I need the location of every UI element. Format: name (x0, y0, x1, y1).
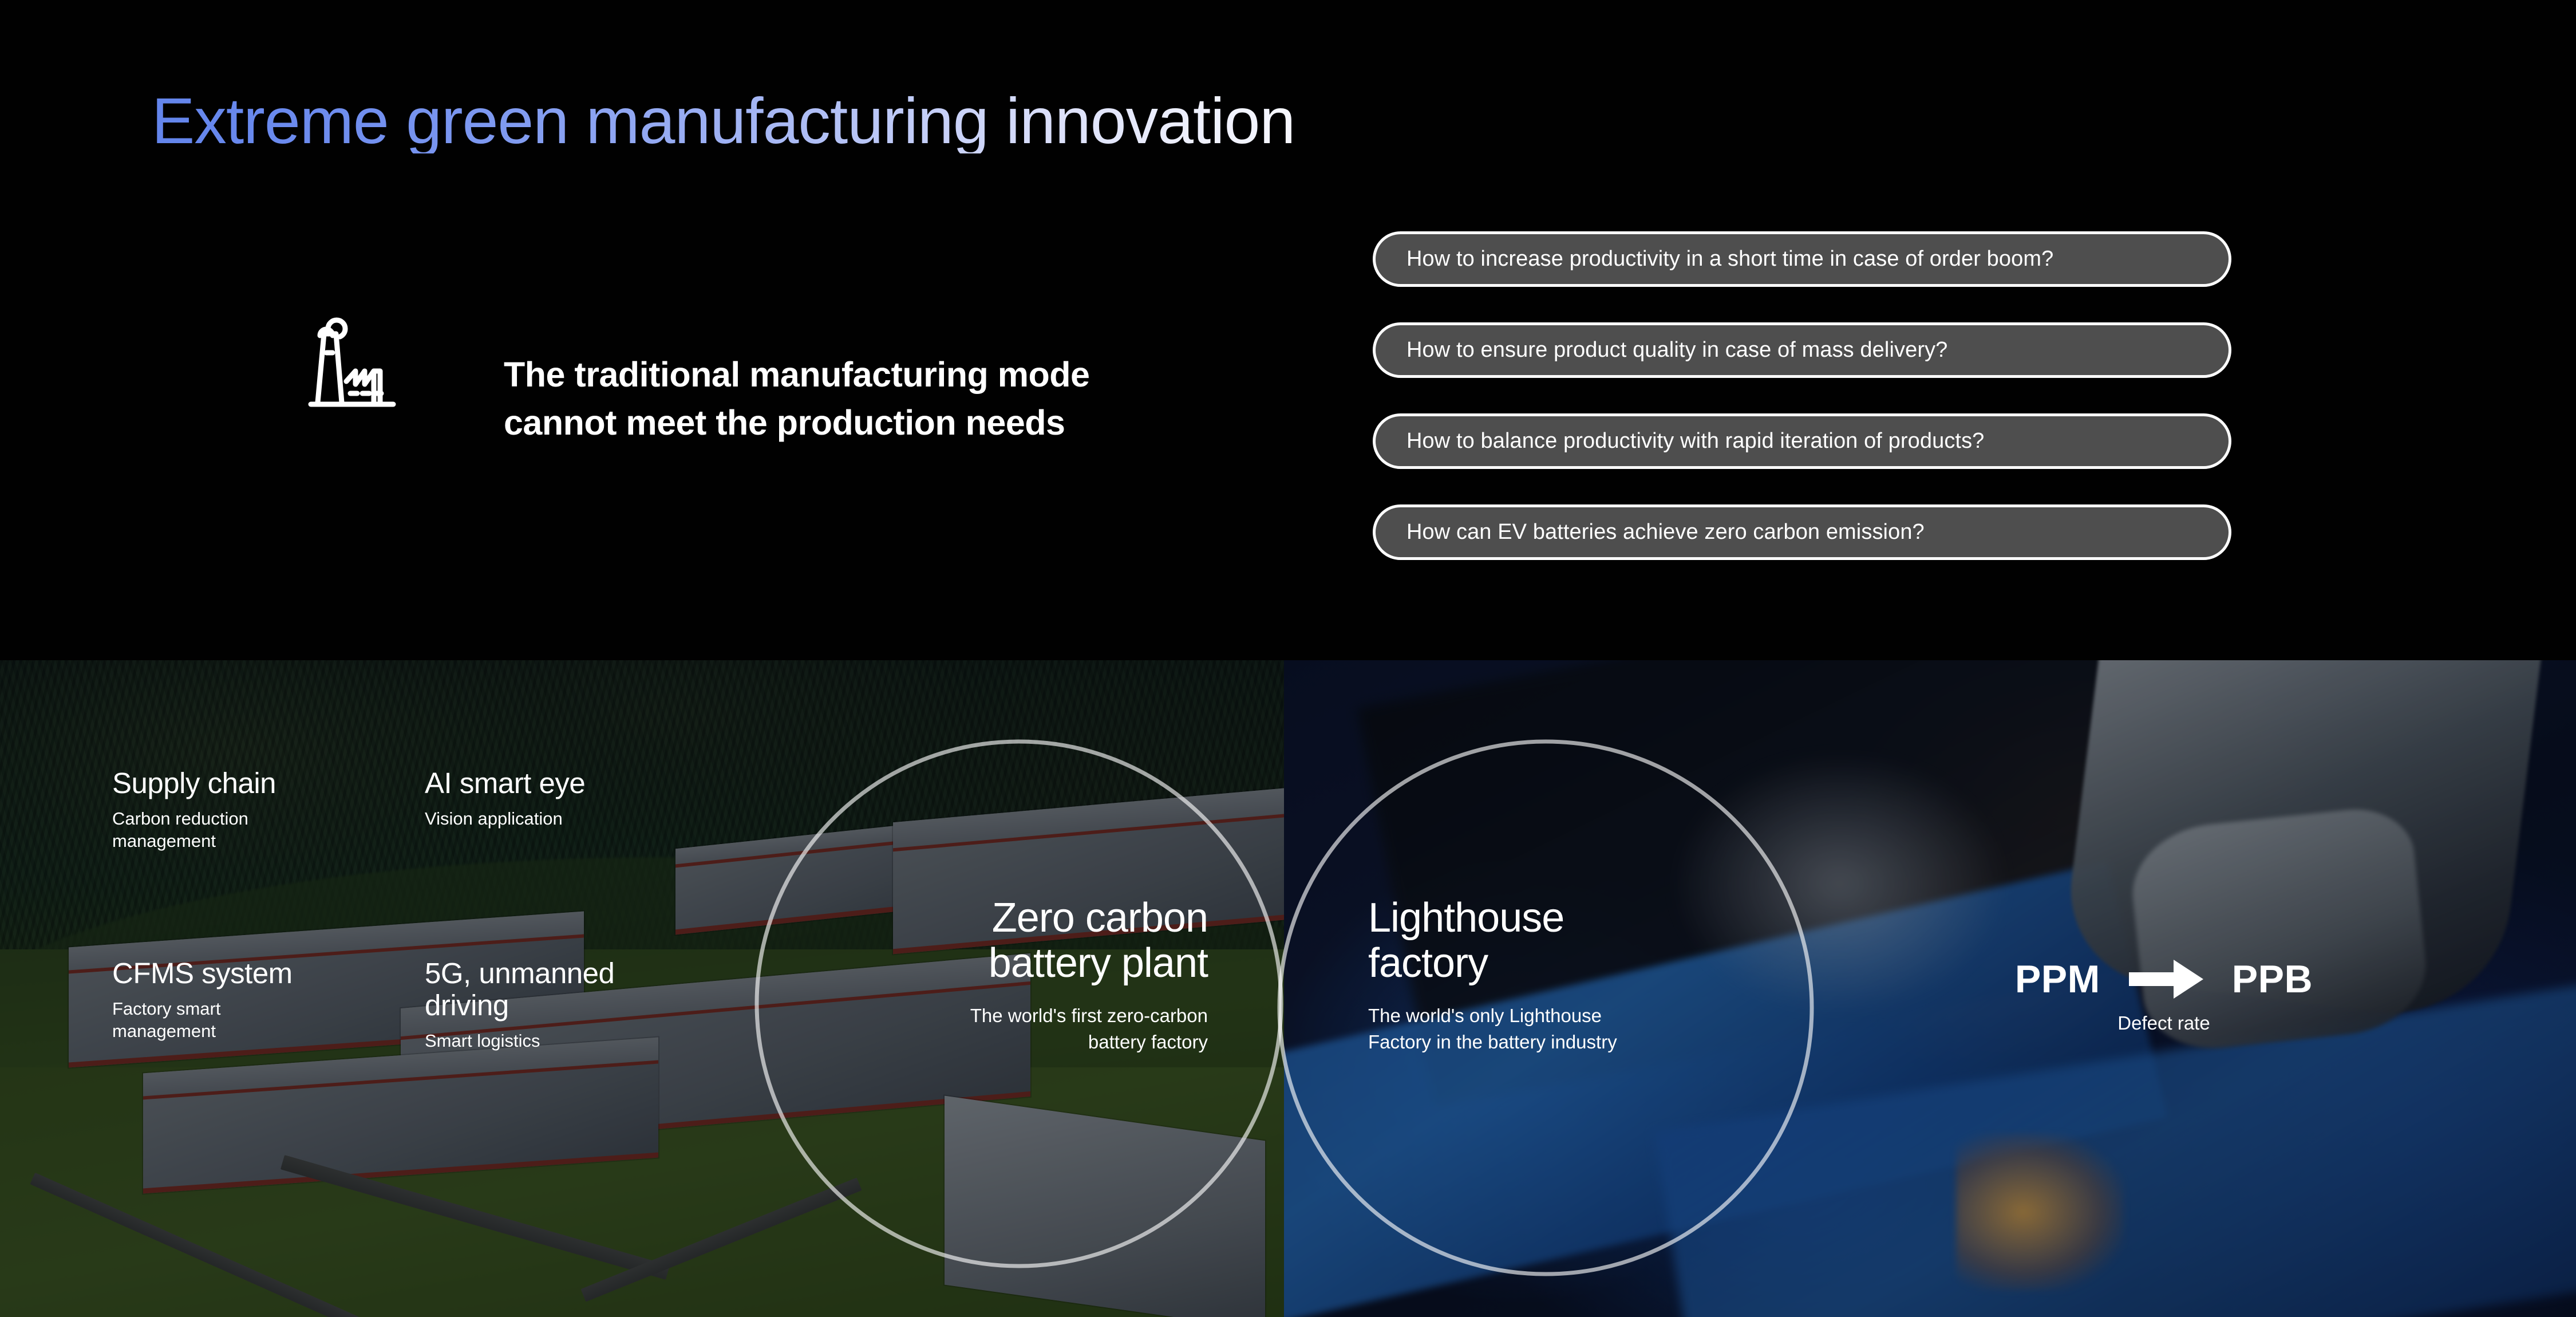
statement-line-2: cannot meet the production needs (504, 399, 1259, 447)
statement-line-1: The traditional manufacturing mode (504, 350, 1259, 399)
feature-subtitle: Smart logistics (425, 1030, 694, 1052)
highlight-title-line-2: factory (1368, 941, 1803, 986)
highlight-title-line-1: Lighthouse (1368, 896, 1803, 941)
feature-title: CFMS system (112, 957, 293, 989)
factory-icon (305, 309, 414, 424)
question-list: How to increase productivity in a short … (1373, 231, 2231, 560)
question-pill-1[interactable]: How to increase productivity in a short … (1373, 231, 2231, 287)
feature-ai-smart-eye: AI smart eye Vision application (425, 767, 585, 830)
statement-heading: The traditional manufacturing mode canno… (504, 350, 1259, 447)
feature-title: 5G, unmanned driving (425, 957, 694, 1022)
feature-subtitle: Vision application (425, 807, 585, 830)
question-pill-2[interactable]: How to ensure product quality in case of… (1373, 322, 2231, 378)
highlight-subtitle-line-2: battery factory (744, 1030, 1208, 1055)
highlight-subtitle-line-1: The world's first zero-carbon (744, 1003, 1208, 1028)
feature-cfms-system: CFMS system Factory smart management (112, 957, 293, 1042)
question-pill-label: How to ensure product quality in case of… (1376, 338, 1947, 362)
top-black-section: Extreme green manufacturing innovation T… (0, 0, 2576, 660)
question-pill-label: How to balance productivity with rapid i… (1376, 429, 1984, 454)
question-pill-label: How to increase productivity in a short … (1376, 247, 2053, 271)
highlight-zero-carbon-battery-plant: Zero carbon battery plant The world's fi… (744, 896, 1208, 1054)
feature-5g-unmanned-driving: 5G, unmanned driving Smart logistics (425, 957, 694, 1052)
highlight-subtitle-line-1: The world's only Lighthouse (1368, 1003, 1803, 1028)
metric-from-value: PPM (2015, 960, 2100, 999)
highlight-lighthouse-factory: Lighthouse factory The world's only Ligh… (1368, 896, 1803, 1054)
question-pill-label: How can EV batteries achieve zero carbon… (1376, 520, 1925, 545)
feature-subtitle: Carbon reduction management (112, 807, 276, 852)
page-title: Extreme green manufacturing innovation (152, 89, 1295, 153)
defect-rate-metric: PPM PPB Defect rate (1946, 960, 2381, 1034)
arrow-right-icon (2129, 960, 2203, 999)
feature-supply-chain: Supply chain Carbon reduction management (112, 767, 276, 852)
question-pill-4[interactable]: How can EV batteries achieve zero carbon… (1373, 504, 2231, 560)
feature-title: AI smart eye (425, 767, 585, 799)
question-pill-3[interactable]: How to balance productivity with rapid i… (1373, 413, 2231, 469)
feature-title: Supply chain (112, 767, 276, 799)
highlight-subtitle-line-2: Factory in the battery industry (1368, 1030, 1803, 1055)
metric-row: PPM PPB (1946, 960, 2381, 999)
metric-to-value: PPB (2232, 960, 2313, 999)
metric-caption: Defect rate (1946, 1012, 2381, 1034)
highlight-title-line-2: battery plant (744, 941, 1208, 986)
highlight-title-line-1: Zero carbon (744, 896, 1208, 941)
feature-subtitle: Factory smart management (112, 997, 293, 1042)
